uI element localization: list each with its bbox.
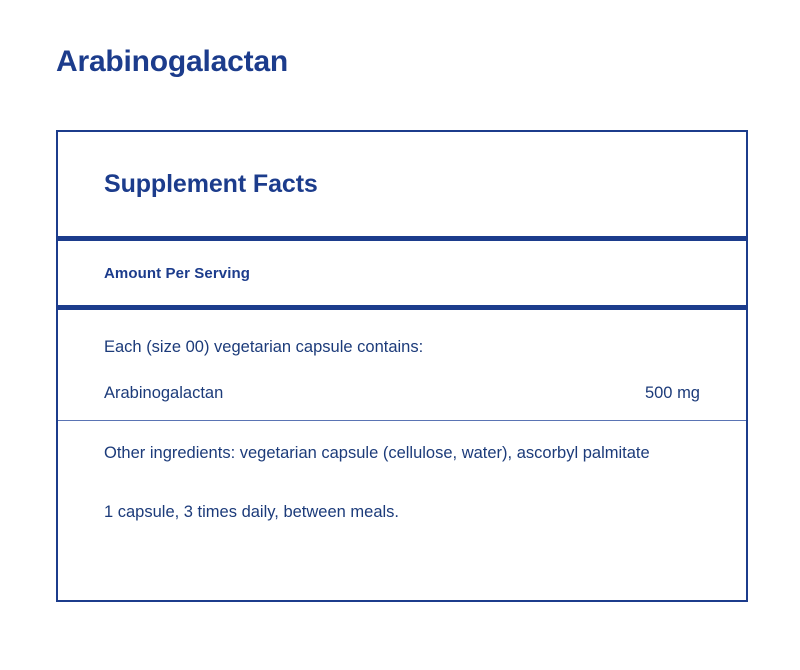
directions-text: 1 capsule, 3 times daily, between meals.: [104, 467, 700, 525]
supplement-label-page: Arabinogalactan Supplement Facts Amount …: [0, 0, 800, 670]
amount-per-serving-row: Amount Per Serving: [58, 241, 746, 305]
other-ingredients-text: Other ingredients: vegetarian capsule (c…: [104, 421, 700, 467]
facts-body: Each (size 00) vegetarian capsule contai…: [58, 310, 746, 420]
amount-per-serving-label: Amount Per Serving: [104, 265, 250, 282]
ingredient-name: Arabinogalactan: [104, 382, 223, 406]
supplement-facts-heading-row: Supplement Facts: [58, 132, 746, 236]
supplement-facts-heading: Supplement Facts: [104, 170, 318, 199]
ingredient-row: Arabinogalactan 500 mg: [104, 360, 700, 420]
product-title: Arabinogalactan: [56, 44, 288, 80]
ingredient-amount: 500 mg: [645, 382, 700, 406]
supplement-facts-panel: Supplement Facts Amount Per Serving Each…: [56, 130, 748, 602]
serving-statement: Each (size 00) vegetarian capsule contai…: [104, 310, 700, 360]
facts-footer: Other ingredients: vegetarian capsule (c…: [58, 421, 746, 524]
